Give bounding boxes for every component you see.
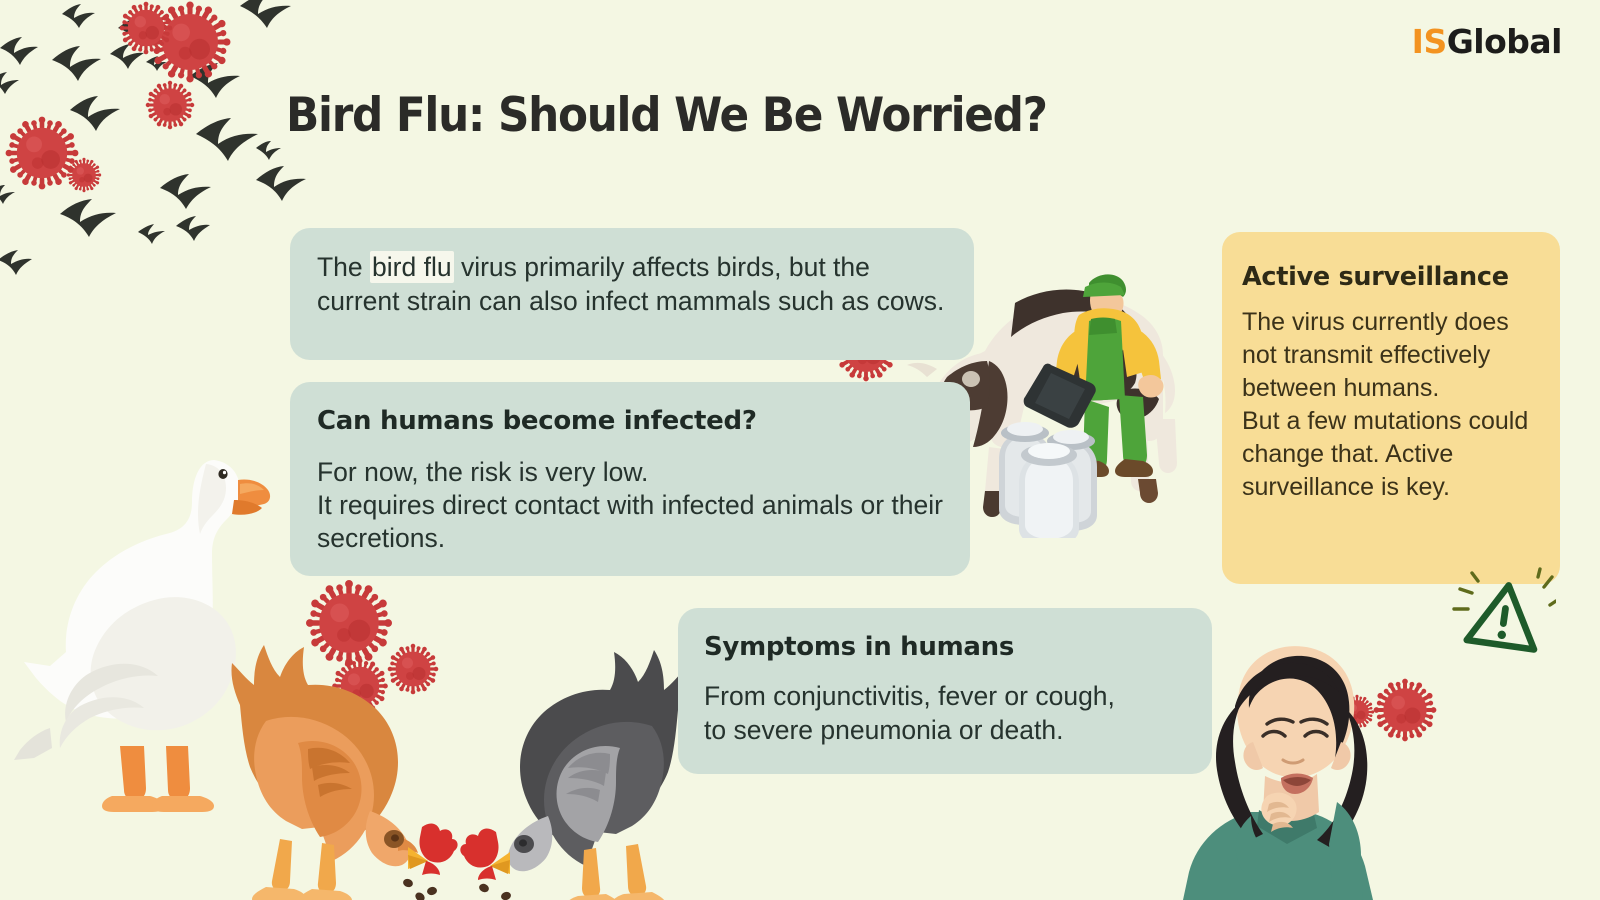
card-humans-line2: It requires direct contact with infected…	[317, 489, 944, 555]
card-symptoms-line2: to severe pneumonia or death.	[704, 713, 1186, 747]
card-humans-line1: For now, the risk is very low.	[317, 456, 944, 489]
logo-global-text: Global	[1447, 22, 1562, 61]
card-symptoms-line1: From conjunctivitis, fever or cough,	[704, 679, 1186, 713]
goose-illustration	[14, 428, 284, 818]
card-symptoms: Symptoms in humans From conjunctivitis, …	[678, 608, 1212, 774]
card-symptoms-body: From conjunctivitis, fever or cough, to …	[704, 679, 1186, 747]
card-surveillance-body: The virus currently does not transmit ef…	[1242, 306, 1538, 504]
card-active-surveillance: Active surveillance The virus currently …	[1222, 232, 1560, 584]
card-humans-body: For now, the risk is very low. It requir…	[317, 456, 944, 555]
logo-is-text: IS	[1412, 22, 1447, 61]
isglobal-logo: ISGlobal	[1412, 22, 1562, 61]
card-humans-heading: Can humans become infected?	[317, 406, 944, 436]
card-intro: The bird flu virus primarily affects bir…	[290, 228, 974, 360]
orange-chicken-illustration	[226, 625, 476, 900]
page-title: Bird Flu: Should We Be Worried?	[286, 88, 1047, 143]
card-surveillance-line2: But a few mutations could change that. A…	[1242, 405, 1538, 504]
infographic-canvas: ISGlobal Bird Flu: Should We Be Worried?	[0, 0, 1600, 900]
card-humans-infected: Can humans become infected? For now, the…	[290, 382, 970, 576]
grey-chicken-illustration	[452, 632, 692, 900]
bird-silhouette-icon	[0, 0, 310, 312]
card-symptoms-heading: Symptoms in humans	[704, 632, 1186, 662]
card-surveillance-heading: Active surveillance	[1242, 262, 1538, 292]
card-surveillance-line1: The virus currently does not transmit ef…	[1242, 306, 1538, 405]
card-intro-text: The bird flu virus primarily affects bir…	[317, 250, 948, 318]
intro-text-before: The	[317, 252, 370, 282]
intro-highlight: bird flu	[370, 251, 454, 283]
